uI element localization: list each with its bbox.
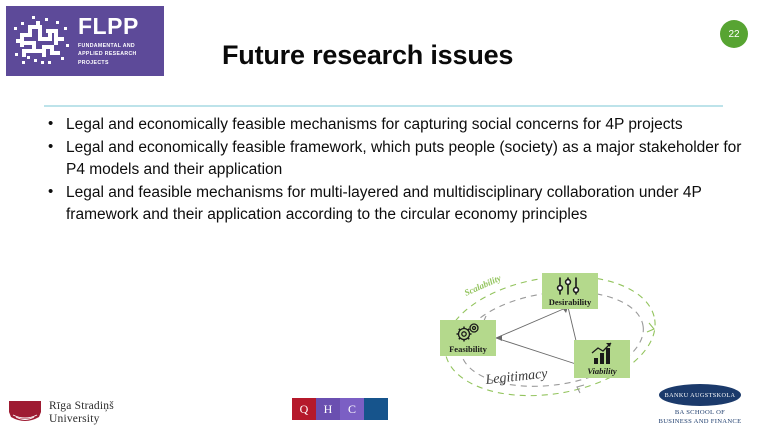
- orbit-label-scalability: Scalability: [463, 272, 504, 297]
- title-divider: [44, 105, 723, 107]
- flpp-logo: FLPP FUNDAMENTAL AND APPLIED RESEARCH PR…: [6, 6, 164, 76]
- rsu-logo: Rīga Stradiņš University: [8, 400, 114, 426]
- list-item: Legal and economically feasible mechanis…: [42, 114, 742, 136]
- rsu-shield-icon: [8, 400, 42, 426]
- flpp-acronym: FLPP: [78, 15, 139, 38]
- diagram-node-feasibility: Feasibility: [440, 320, 496, 356]
- sliders-icon: [558, 278, 579, 294]
- ba-subtitle-line-1: BA SCHOOL OF: [648, 409, 752, 418]
- ba-subtitle-line-2: BUSINESS AND FINANCE: [648, 418, 752, 427]
- diagram-node-label: Feasibility: [449, 344, 488, 354]
- qhc-logo: Q H C: [292, 398, 388, 420]
- rsu-name-line-2: University: [49, 413, 114, 426]
- node-connector-triangle: [496, 307, 582, 368]
- diagram-node-label: Desirability: [549, 297, 592, 307]
- flpp-subtitle-line-3: PROJECTS: [78, 59, 139, 67]
- bullet-list: Legal and economically feasible mechanis…: [42, 114, 742, 227]
- diagram-node-label: Viability: [587, 366, 617, 376]
- qhc-cell-blank: [364, 398, 388, 420]
- rsu-name-line-1: Rīga Stradiņš: [49, 400, 114, 413]
- diagram-node-viability: Viability: [574, 340, 630, 378]
- ba-oval-wordmark: BANKU AUGSTSKOLA: [659, 384, 741, 406]
- diagram-node-desirability: Desirability: [542, 273, 598, 309]
- qhc-cell-q: Q: [292, 398, 316, 420]
- list-item: Legal and feasible mechanisms for multi-…: [42, 182, 742, 226]
- page-number-badge: 22: [720, 20, 748, 48]
- flpp-subtitle-line-2: APPLIED RESEARCH: [78, 50, 139, 58]
- list-item: Legal and economically feasible framewor…: [42, 137, 742, 181]
- orbit-label-legitimacy: Legitimacy: [484, 366, 549, 388]
- flpp-subtitle: FUNDAMENTAL AND APPLIED RESEARCH PROJECT…: [78, 42, 139, 66]
- flpp-subtitle-line-1: FUNDAMENTAL AND: [78, 42, 139, 50]
- ba-subtitle: BA SCHOOL OF BUSINESS AND FINANCE: [648, 409, 752, 427]
- rsu-wordmark: Rīga Stradiņš University: [49, 400, 114, 426]
- flpp-wordmark: FLPP FUNDAMENTAL AND APPLIED RESEARCH PR…: [78, 15, 139, 66]
- qhc-cell-h: H: [316, 398, 340, 420]
- desirability-feasibility-viability-diagram: Desirability Fe: [424, 268, 674, 402]
- flpp-maze-icon: [12, 13, 72, 69]
- page-title: Future research issues: [222, 40, 513, 71]
- ba-school-logo: BANKU AUGSTSKOLA BA SCHOOL OF BUSINESS A…: [648, 384, 752, 427]
- qhc-cell-c: C: [340, 398, 364, 420]
